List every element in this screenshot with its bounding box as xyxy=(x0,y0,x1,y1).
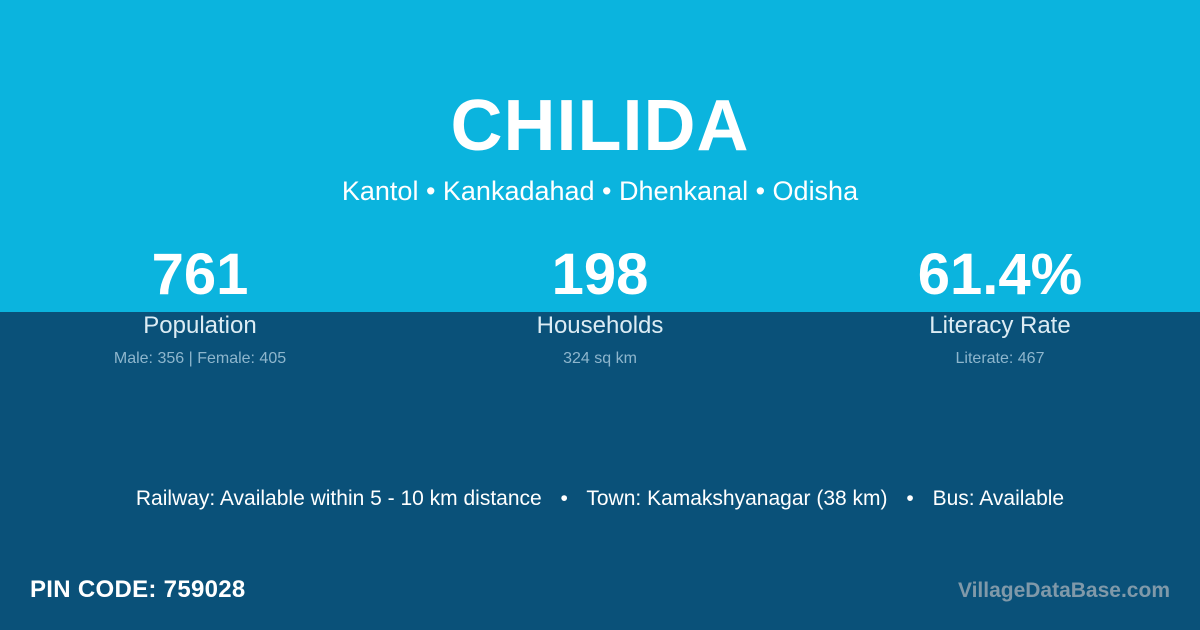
page-title: CHILIDA xyxy=(0,0,1200,166)
amenity-town: Town: Kamakshyanagar (38 km) xyxy=(586,487,887,510)
card-footer: PIN CODE: 759028 VillageDataBase.com xyxy=(0,572,1200,630)
amenity-separator-icon: • xyxy=(893,485,926,513)
stat-households: 198 Households 324 sq km xyxy=(400,243,800,369)
stat-households-value: 198 xyxy=(400,243,800,307)
stat-population-sub: Male: 356 | Female: 405 xyxy=(0,349,400,369)
stats-row: 761 Population Male: 356 | Female: 405 1… xyxy=(0,243,1200,369)
stat-literacy-rate-sub: Literate: 467 xyxy=(800,349,1200,369)
stat-literacy-rate: 61.4% Literacy Rate Literate: 467 xyxy=(800,243,1200,369)
stat-population-value: 761 xyxy=(0,243,400,307)
breadcrumb: Kantol • Kankadahad • Dhenkanal • Odisha xyxy=(0,166,1200,208)
amenities-line: Railway: Available within 5 - 10 km dist… xyxy=(0,485,1200,513)
amenity-bus: Bus: Available xyxy=(933,487,1065,510)
stat-population: 761 Population Male: 356 | Female: 405 xyxy=(0,243,400,369)
amenity-railway: Railway: Available within 5 - 10 km dist… xyxy=(136,487,542,510)
stat-households-label: Households xyxy=(400,311,800,341)
amenity-separator-icon: • xyxy=(548,485,581,513)
pin-code: PIN CODE: 759028 xyxy=(30,574,246,606)
stat-literacy-rate-value: 61.4% xyxy=(800,243,1200,307)
village-info-card: CHILIDA Kantol • Kankadahad • Dhenkanal … xyxy=(0,0,1200,630)
brand-watermark: VillageDataBase.com xyxy=(958,577,1170,605)
stat-households-sub: 324 sq km xyxy=(400,349,800,369)
stat-population-label: Population xyxy=(0,311,400,341)
card-header: CHILIDA Kantol • Kankadahad • Dhenkanal … xyxy=(0,0,1200,208)
stat-literacy-rate-label: Literacy Rate xyxy=(800,311,1200,341)
